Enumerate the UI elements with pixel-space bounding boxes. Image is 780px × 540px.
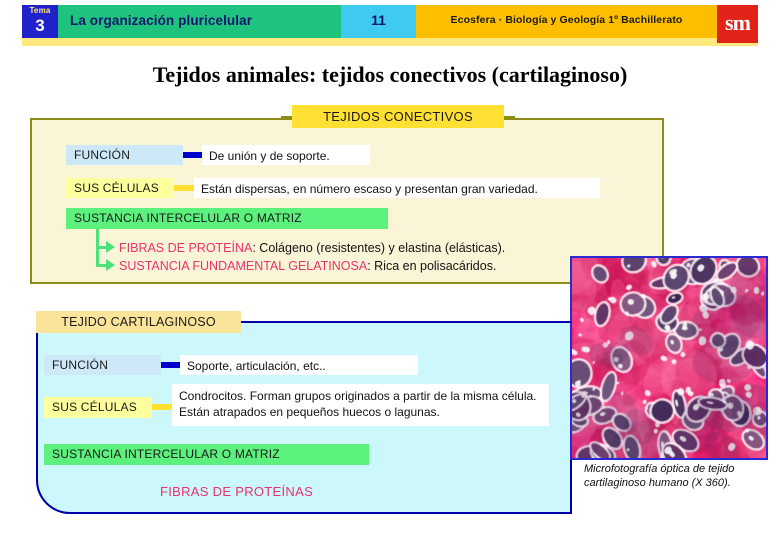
tema-number-box: Tema 3 <box>22 5 58 38</box>
cartilaginoso-celulas-connector <box>152 404 172 410</box>
micrograph-caption-line-2: cartilaginoso humano (X 360). <box>584 476 774 490</box>
micrograph-image <box>570 256 768 460</box>
cartilaginoso-heading-label: TEJIDO CARTILAGINOSO <box>36 311 241 329</box>
conectivos-celulas-value: Están dispersas, en número escaso y pres… <box>194 178 600 198</box>
page-title: Tejidos animales: tejidos conectivos (ca… <box>0 62 780 88</box>
matriz-arrow-icon-2 <box>106 259 115 271</box>
conectivos-heading-label: TEJIDOS CONECTIVOS <box>292 105 504 124</box>
cartilaginoso-funcion-value: Soporte, articulación, etc.. <box>180 355 418 375</box>
conectivos-celulas-label: SUS CÉLULAS <box>66 178 174 198</box>
page-number-band: 11 <box>341 5 416 38</box>
micrograph-caption: Microfotografía óptica de tejido cartila… <box>584 462 774 490</box>
conectivos-matriz-item-2-value: : Rica en polisacáridos. <box>367 259 496 273</box>
conectivos-matriz-item-1-value: : Colágeno (resistentes) y elastina (elá… <box>252 241 505 255</box>
slide-header: Tema 3 La organización pluricelular 11 E… <box>0 0 780 48</box>
conectivos-celulas-connector <box>174 185 194 191</box>
micrograph-caption-line-1: Microfotografía óptica de tejido <box>584 462 774 476</box>
cartilaginoso-top-rule <box>241 321 572 323</box>
micrograph-canvas <box>572 258 766 458</box>
cartilaginoso-fibras-label: FIBRAS DE PROTEÍNAS <box>160 484 313 499</box>
cartilaginoso-celulas-label: SUS CÉLULAS <box>44 397 152 418</box>
book-info-label: Ecosfera · Biología y Geología 1º Bachil… <box>416 5 717 26</box>
cartilaginoso-funcion-label: FUNCIÓN <box>44 355 161 375</box>
conectivos-matriz-item-2: SUSTANCIA FUNDAMENTAL GELATINOSA: Rica e… <box>119 258 496 274</box>
conectivos-matriz-item-2-key: SUSTANCIA FUNDAMENTAL GELATINOSA <box>119 259 367 273</box>
conectivos-funcion-label: FUNCIÓN <box>66 145 183 165</box>
publisher-logo: sm <box>717 5 758 43</box>
conectivos-matriz-item-1: FIBRAS DE PROTEÍNA: Colágeno (resistente… <box>119 240 505 256</box>
conectivos-heading: TEJIDOS CONECTIVOS <box>292 105 504 128</box>
cartilaginoso-funcion-connector <box>161 362 180 368</box>
conectivos-matriz-item-1-key: FIBRAS DE PROTEÍNA <box>119 241 252 255</box>
unit-title-band: La organización pluricelular <box>58 5 341 38</box>
cartilaginoso-heading: TEJIDO CARTILAGINOSO <box>36 311 241 333</box>
tema-number-label: 3 <box>22 16 58 35</box>
matriz-arrow-icon-1 <box>106 241 115 253</box>
page-number-label: 11 <box>341 5 416 28</box>
conectivos-funcion-value: De unión y de soporte. <box>202 145 370 165</box>
cartilaginoso-matriz-label: SUSTANCIA INTERCELULAR O MATRIZ <box>44 444 369 465</box>
conectivos-funcion-connector <box>183 152 202 158</box>
tema-word-label: Tema <box>22 5 58 16</box>
unit-title-label: La organización pluricelular <box>58 5 341 28</box>
cartilaginoso-celulas-value: Condrocitos. Forman grupos originados a … <box>172 384 549 426</box>
conectivos-matriz-label: SUSTANCIA INTERCELULAR O MATRIZ <box>66 208 388 229</box>
book-info-band: Ecosfera · Biología y Geología 1º Bachil… <box>416 5 717 38</box>
publisher-logo-label: sm <box>717 5 758 36</box>
